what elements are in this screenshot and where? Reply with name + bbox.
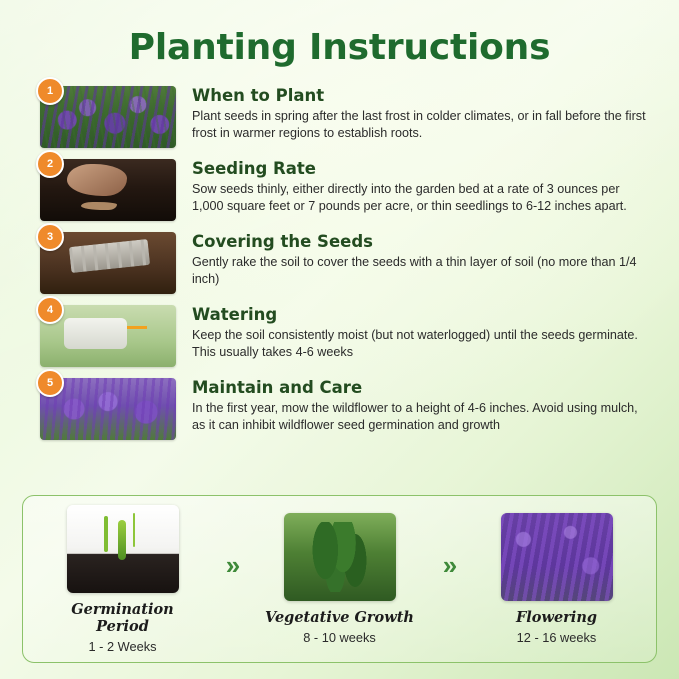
chevron-right-icon: » (443, 552, 453, 606)
step-number-badge: 5 (36, 369, 64, 397)
timeline-stage-duration: 12 - 16 weeks (479, 630, 634, 645)
step-title: Maintain and Care (192, 378, 653, 397)
infographic-page: Planting Instructions 1 When to Plant Pl… (0, 0, 679, 679)
step-text: Covering the Seeds Gently rake the soil … (176, 232, 653, 290)
step-description: Plant seeds in spring after the last fro… (192, 108, 653, 144)
step-item: 3 Covering the Seeds Gently rake the soi… (36, 232, 653, 294)
timeline-stage: Vegetative Growth 8 - 10 weeks (262, 513, 417, 645)
page-title: Planting Instructions (0, 0, 679, 68)
step-thumbnail-wrap: 3 (36, 232, 176, 294)
step-text: When to Plant Plant seeds in spring afte… (176, 86, 653, 144)
timeline-stage-title: Germination Period (45, 601, 200, 635)
timeline-stage-title: Flowering (479, 609, 634, 626)
step-description: Sow seeds thinly, either directly into t… (192, 181, 653, 217)
timeline-stage: Flowering 12 - 16 weeks (479, 513, 634, 645)
leafy-green-plant-photo (284, 513, 396, 601)
timeline-stage-title: Vegetative Growth (262, 609, 417, 626)
step-thumbnail-wrap: 5 (36, 378, 176, 440)
step-text: Maintain and Care In the first year, mow… (176, 378, 653, 436)
step-title: Watering (192, 305, 653, 324)
step-title: Covering the Seeds (192, 232, 653, 251)
step-thumbnail-wrap: 1 (36, 86, 176, 148)
step-item: 1 When to Plant Plant seeds in spring af… (36, 86, 653, 148)
lavender-blooms-photo (501, 513, 613, 601)
step-thumbnail-wrap: 4 (36, 305, 176, 367)
step-item: 2 Seeding Rate Sow seeds thinly, either … (36, 159, 653, 221)
step-number-badge: 3 (36, 223, 64, 251)
steps-list: 1 When to Plant Plant seeds in spring af… (0, 86, 679, 440)
step-description: Gently rake the soil to cover the seeds … (192, 254, 653, 290)
step-number-badge: 1 (36, 77, 64, 105)
timeline-stage: Germination Period 1 - 2 Weeks (45, 505, 200, 654)
step-title: Seeding Rate (192, 159, 653, 178)
chevron-right-icon: » (226, 552, 236, 606)
step-title: When to Plant (192, 86, 653, 105)
timeline-stage-duration: 8 - 10 weeks (262, 630, 417, 645)
step-description: Keep the soil consistently moist (but no… (192, 327, 653, 363)
seedling-sprout-photo (67, 505, 179, 593)
step-thumbnail-wrap: 2 (36, 159, 176, 221)
step-description: In the first year, mow the wildflower to… (192, 400, 653, 436)
timeline-stage-duration: 1 - 2 Weeks (45, 639, 200, 654)
step-text: Seeding Rate Sow seeds thinly, either di… (176, 159, 653, 217)
step-number-badge: 2 (36, 150, 64, 178)
step-number-badge: 4 (36, 296, 64, 324)
step-text: Watering Keep the soil consistently mois… (176, 305, 653, 363)
growth-timeline-panel: Germination Period 1 - 2 Weeks » Vegetat… (22, 495, 657, 663)
step-item: 5 Maintain and Care In the first year, m… (36, 378, 653, 440)
step-item: 4 Watering Keep the soil consistently mo… (36, 305, 653, 367)
